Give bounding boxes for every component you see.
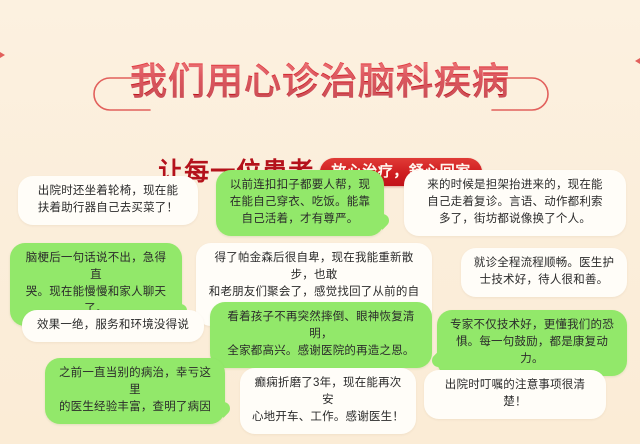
testimonial-bubble: 看着孩子不再突然摔倒、眼神恢复清明， 全家都高兴。感谢医院的再造之恩。 [210,302,432,368]
testimonial-bubble: 专家不仅技术好，更懂我们的恐 惧。每一句鼓励，都是康复动力。 [437,310,627,376]
testimonial-bubble: 之前一直当别的病治，幸亏这里 的医生经验丰富，查明了病因 [45,358,225,424]
testimonial-list: 出院时还坐着轮椅，现在能 扶着助行器自己去买菜了！ 以前连扣扣子都要人帮，现 在… [0,0,640,444]
testimonial-bubble: 效果一绝，服务和环境没得说 [22,310,204,342]
testimonial-bubble: 癫痫折磨了3年，现在能再次安 心地开车、工作。感谢医生！ [240,368,416,434]
testimonial-bubble: 出院时叮嘱的注意事项很清楚！ [424,370,606,419]
testimonial-bubble: 出院时还坐着轮椅，现在能 扶着助行器自己去买菜了！ [18,176,198,225]
testimonial-bubble: 来的时候是担架抬进来的，现在能 自己走着复诊。言语、动作都利索 多了，街坊都说像… [404,170,626,236]
testimonial-bubble: 以前连扣扣子都要人帮，现 在能自己穿衣、吃饭。能靠 自己活着，才有尊严。 [216,170,384,236]
testimonial-bubble: 就诊全程流程顺畅。医生护 士技术好，待人很和善。 [461,248,627,297]
promo-banner: 我们用心诊治脑科疾病 让每一位患者 放心治疗，舒心回家 出院时还坐着轮椅，现在能… [0,0,640,444]
